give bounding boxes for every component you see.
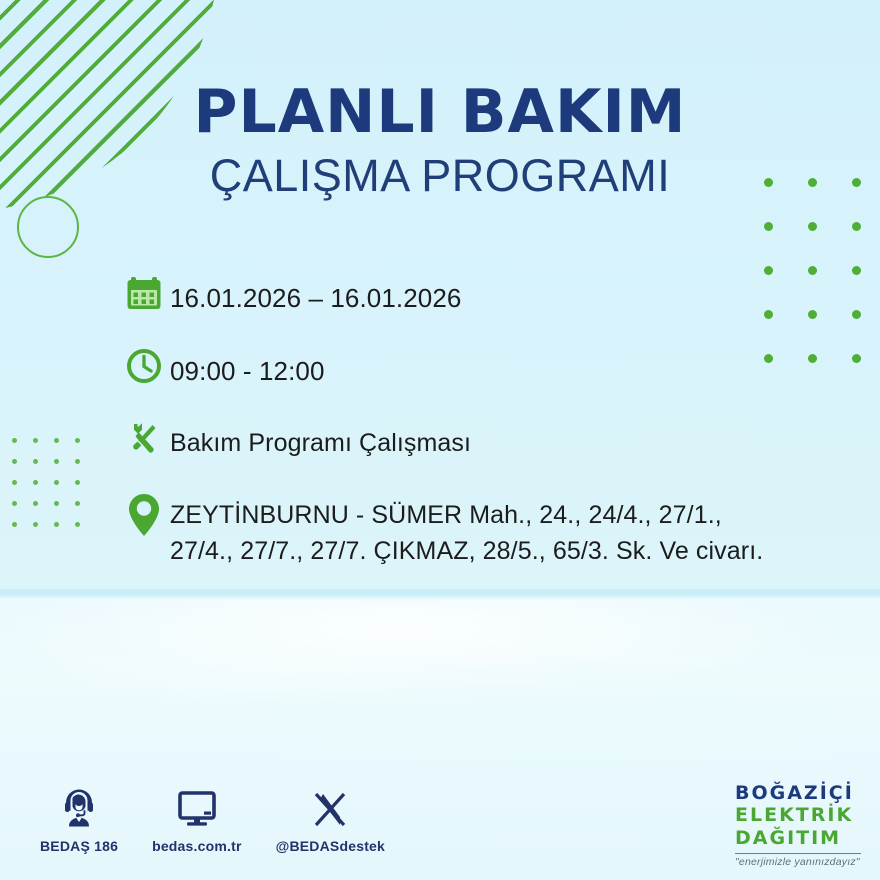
circle-outline-decoration (17, 196, 79, 258)
logo-tagline: "enerjimizle yanınızdayız" (735, 856, 861, 868)
info-row-time-text: 09:00 - 12:00 (170, 345, 325, 390)
contact-x-label: @BEDASdestek (276, 838, 385, 854)
logo-line-bogazici: BOĞAZİÇİ (735, 782, 861, 804)
info-row-date: 16.01.2026 – 16.01.2026 (118, 272, 818, 324)
monitor-icon (175, 786, 219, 832)
info-row-location-text: ZEYTİNBURNU - SÜMER Mah., 24., 24/4., 27… (170, 490, 790, 569)
logo-divider (735, 853, 861, 854)
logo-line-elektrik: ELEKTRİK (735, 804, 861, 826)
page-title: PLANLI BAKIM (0, 82, 880, 143)
info-list: 16.01.2026 – 16.01.2026 09:00 - 12:00 (118, 272, 818, 590)
contact-website[interactable]: bedas.com.tr (152, 786, 242, 854)
calendar-icon (118, 272, 170, 324)
poster-title-block: PLANLI BAKIM ÇALIŞMA PROGRAMI (0, 82, 880, 201)
bedas-logo: BOĞAZİÇİ ELEKTRİK DAĞITIM "enerjimizle y… (735, 782, 861, 868)
info-row-time: 09:00 - 12:00 (118, 345, 818, 397)
x-logo-icon (310, 786, 350, 832)
logo-line-dagitim: DAĞITIM (735, 827, 861, 849)
support-agent-icon (58, 786, 100, 832)
poster-canvas: PLANLI BAKIM ÇALIŞMA PROGRAMI (0, 0, 880, 880)
clock-icon (118, 345, 170, 397)
contact-phone[interactable]: BEDAŞ 186 (40, 786, 118, 854)
info-row-description-text: Bakım Programı Çalışması (170, 418, 471, 462)
page-subtitle: ÇALIŞMA PROGRAMI (0, 151, 880, 201)
footer-contacts: BEDAŞ 186 bedas.com.tr @BEDASdestek (40, 786, 419, 854)
contact-phone-label: BEDAŞ 186 (40, 838, 118, 854)
info-row-location: ZEYTİNBURNU - SÜMER Mah., 24., 24/4., 27… (118, 490, 818, 569)
info-row-description: Bakım Programı Çalışması (118, 418, 818, 470)
location-pin-icon (118, 490, 170, 542)
info-row-date-text: 16.01.2026 – 16.01.2026 (170, 272, 461, 317)
dot-grid-left-decoration (12, 438, 96, 543)
contact-x-account[interactable]: @BEDASdestek (276, 786, 385, 854)
contact-website-label: bedas.com.tr (152, 838, 242, 854)
tools-icon (118, 418, 170, 470)
